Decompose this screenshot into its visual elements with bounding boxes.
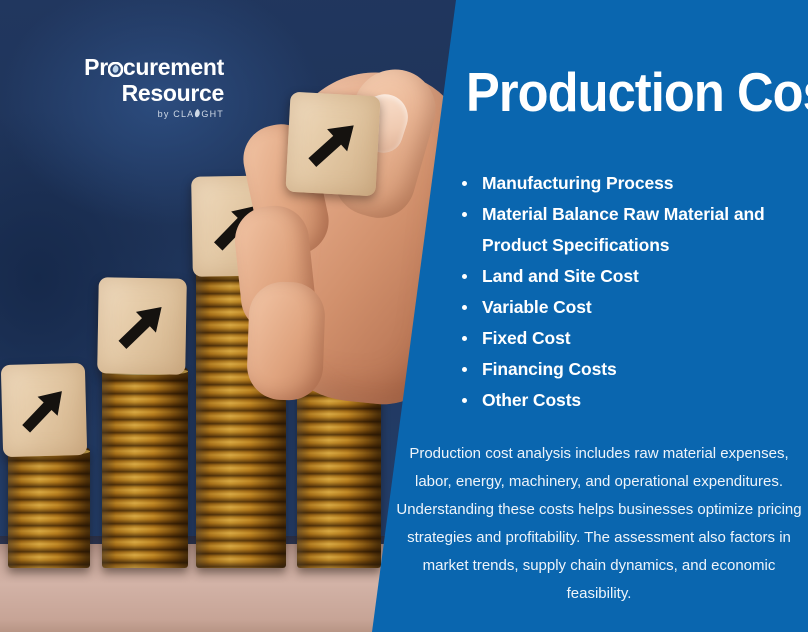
list-item: Land and Site Cost <box>458 261 806 292</box>
arrow-up-right-icon <box>112 297 171 356</box>
procurement-resource-logo: Prcurement Resource by CLAGHT <box>34 54 224 119</box>
finger-ring <box>246 281 326 402</box>
logo-line-1: Prcurement <box>34 54 224 80</box>
arrow-up-right-icon <box>302 114 364 174</box>
page-title: Production Cost <box>466 62 779 122</box>
leaf-icon <box>108 62 123 77</box>
logo-byline: by CLAGHT <box>34 109 224 119</box>
logo-line-2: Resource <box>34 80 224 106</box>
logo-line-1-pre: Pr <box>84 54 108 80</box>
list-item: Manufacturing Process <box>458 168 806 199</box>
list-item: Other Costs <box>458 385 806 416</box>
coin-stack-1 <box>8 448 90 568</box>
list-item: Financing Costs <box>458 354 806 385</box>
production-cost-banner: Prcurement Resource by CLAGHT Production… <box>0 0 808 632</box>
feature-bullet-list: Manufacturing Process Material Balance R… <box>458 168 806 416</box>
list-item: Fixed Cost <box>458 323 806 354</box>
panel-content: Production Cost Manufacturing Process Ma… <box>458 0 808 632</box>
logo-byline-prefix: by CLA <box>158 109 195 119</box>
logo-byline-suffix: GHT <box>201 109 224 119</box>
wooden-block-1 <box>1 363 87 457</box>
list-item: Variable Cost <box>458 292 806 323</box>
coin-stack-2 <box>102 368 188 568</box>
description-paragraph: Production cost analysis includes raw ma… <box>392 440 806 608</box>
logo-line-1-post: curement <box>123 54 224 80</box>
list-item: Material Balance Raw Material and Produc… <box>458 199 806 261</box>
wooden-block-4 <box>285 92 380 197</box>
arrow-up-right-icon <box>16 382 72 439</box>
wooden-block-2 <box>97 277 187 375</box>
